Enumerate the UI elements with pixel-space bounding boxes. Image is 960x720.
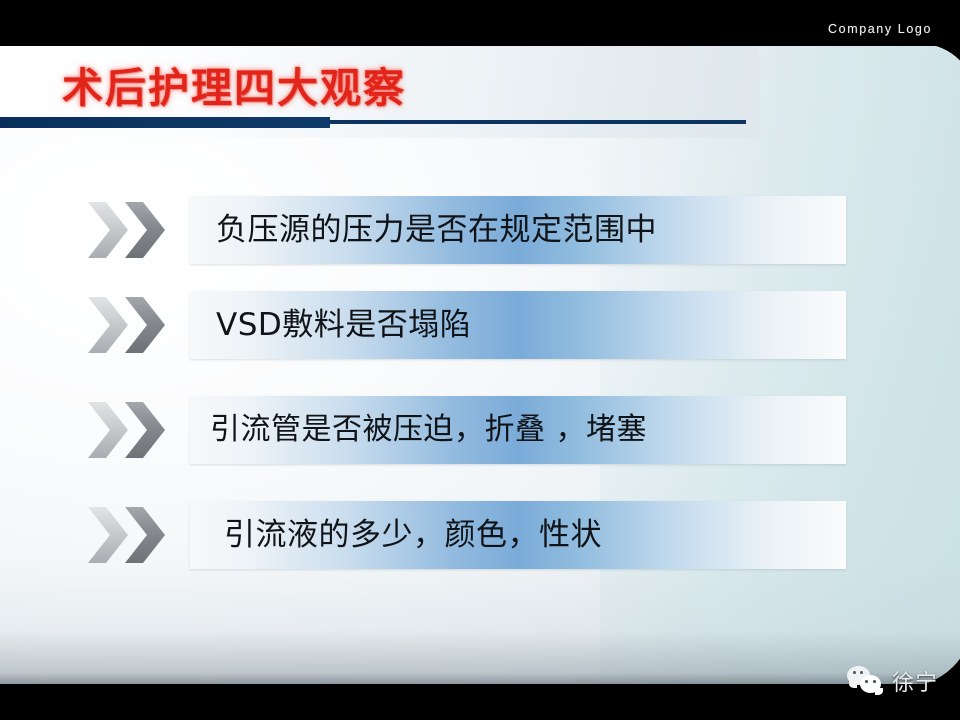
double-chevron-icon xyxy=(86,295,184,355)
bullet-text: 引流液的多少，颜色，性状 xyxy=(224,501,602,569)
wechat-account-name: 徐宁 xyxy=(892,665,938,697)
slide-body-panel xyxy=(0,44,960,688)
bullet-row[interactable]: 引流管是否被压迫，折叠 ，堵塞 xyxy=(86,396,846,464)
bullet-text: 负压源的压力是否在规定范围中 xyxy=(216,196,657,264)
double-chevron-icon xyxy=(86,200,184,260)
bullet-row[interactable]: 引流液的多少，颜色，性状 xyxy=(86,501,846,569)
title-rule-thick xyxy=(0,117,330,128)
bottom-black-band xyxy=(0,684,960,720)
bullet-bar: 引流液的多少，颜色，性状 xyxy=(190,501,846,569)
bullet-bar: VSD敷料是否塌陷 xyxy=(190,291,846,359)
wechat-watermark: 徐宁 xyxy=(847,664,938,698)
wechat-icon xyxy=(847,666,883,696)
bullet-text: VSD敷料是否塌陷 xyxy=(216,291,471,359)
wechat-bubble-large-tail xyxy=(849,681,857,688)
double-chevron-icon xyxy=(86,400,184,460)
wechat-eye xyxy=(860,671,863,674)
wechat-eye xyxy=(873,680,876,683)
bullet-text: 引流管是否被压迫，折叠 ，堵塞 xyxy=(210,396,647,464)
wechat-eye xyxy=(865,680,868,683)
title-rule-thin xyxy=(330,120,746,124)
wechat-bubble-small-tail xyxy=(875,688,883,695)
bullet-bar: 引流管是否被压迫，折叠 ，堵塞 xyxy=(190,396,846,464)
bullet-row[interactable]: 负压源的压力是否在规定范围中 xyxy=(86,196,846,264)
presentation-slide: Company Logo 术后护理四大观察 xyxy=(0,0,960,720)
bullet-row[interactable]: VSD敷料是否塌陷 xyxy=(86,291,846,359)
bullet-bar: 负压源的压力是否在规定范围中 xyxy=(190,196,846,264)
double-chevron-icon xyxy=(86,505,184,565)
slide-title: 术后护理四大观察 xyxy=(62,54,406,114)
top-black-band xyxy=(0,0,960,46)
company-logo-text: Company Logo xyxy=(828,22,932,36)
wechat-eye xyxy=(853,671,856,674)
